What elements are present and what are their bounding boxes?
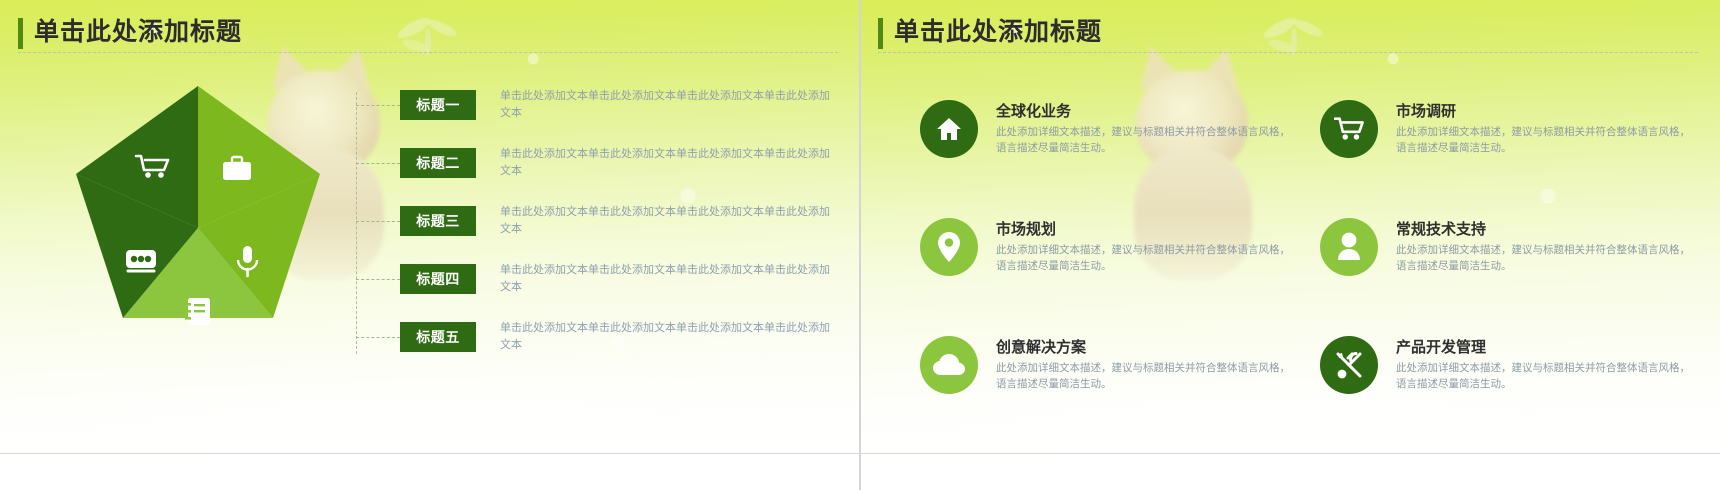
- feature-item-creative-solutions: 创意解决方案 此处添加详细文本描述，建议与标题相关并符合整体语言风格，语言描述尽…: [920, 332, 1310, 428]
- tools-icon[interactable]: [1320, 336, 1378, 394]
- slide-bottom-rule: [860, 453, 1720, 454]
- label-chip-1[interactable]: 标题一: [400, 90, 476, 120]
- home-icon[interactable]: [920, 100, 978, 158]
- label-chip-2[interactable]: 标题二: [400, 148, 476, 178]
- slide-deck: 单击此处添加标题: [0, 0, 1720, 490]
- title-divider: [18, 52, 838, 53]
- feature-item-market-research: 市场调研 此处添加详细文本描述，建议与标题相关并符合整体语言风格，语言描述尽量简…: [1320, 96, 1710, 192]
- label-text-2: 单击此处添加文本单击此处添加文本单击此处添加文本单击此处添加文本: [500, 146, 830, 180]
- slide-2: 单击此处添加标题 全球化业务 此处添加详细文本描述，建议与标题相关并符合整体语言…: [860, 0, 1720, 490]
- feature-item-product-development: 产品开发管理 此处添加详细文本描述，建议与标题相关并符合整体语言风格，语言描述尽…: [1320, 332, 1710, 428]
- feature-text: 此处添加详细文本描述，建议与标题相关并符合整体语言风格，语言描述尽量简洁生动。: [1396, 124, 1696, 156]
- feature-heading: 市场规划: [996, 218, 1056, 239]
- feature-text: 此处添加详细文本描述，建议与标题相关并符合整体语言风格，语言描述尽量简洁生动。: [996, 124, 1296, 156]
- title-accent-bar: [18, 18, 23, 49]
- title-divider: [878, 52, 1698, 53]
- connector-dash: [356, 163, 400, 164]
- cart-icon[interactable]: [1320, 100, 1378, 158]
- feature-item-global-business: 全球化业务 此处添加详细文本描述，建议与标题相关并符合整体语言风格，语言描述尽量…: [920, 96, 1310, 192]
- label-text-1: 单击此处添加文本单击此处添加文本单击此处添加文本单击此处添加文本: [500, 88, 830, 122]
- slide-2-header: 单击此处添加标题: [878, 14, 1698, 54]
- slide-divider: [859, 0, 861, 490]
- page-title: 单击此处添加标题: [34, 14, 242, 50]
- notebook-icon: [185, 298, 210, 325]
- slide-bottom-rule: [0, 453, 860, 454]
- feature-item-market-planning: 市场规划 此处添加详细文本描述，建议与标题相关并符合整体语言风格，语言描述尽量简…: [920, 214, 1310, 310]
- label-text-5: 单击此处添加文本单击此处添加文本单击此处添加文本单击此处添加文本: [500, 320, 830, 354]
- list-item: 标题五 单击此处添加文本单击此处添加文本单击此处添加文本单击此处添加文本: [400, 322, 840, 380]
- location-pin-icon[interactable]: [920, 218, 978, 276]
- feature-heading: 常规技术支持: [1396, 218, 1486, 239]
- connector-dash: [356, 337, 400, 338]
- page-title: 单击此处添加标题: [894, 14, 1102, 50]
- feature-heading: 创意解决方案: [996, 336, 1086, 357]
- slide-1: 单击此处添加标题: [0, 0, 860, 490]
- feature-text: 此处添加详细文本描述，建议与标题相关并符合整体语言风格，语言描述尽量简洁生动。: [996, 360, 1296, 392]
- connector-dash: [356, 105, 400, 106]
- telephone-icon: [126, 250, 156, 271]
- connector-dash: [356, 221, 400, 222]
- feature-text: 此处添加详细文本描述，建议与标题相关并符合整体语言风格，语言描述尽量简洁生动。: [1396, 242, 1696, 274]
- label-chip-3[interactable]: 标题三: [400, 206, 476, 236]
- label-chip-4[interactable]: 标题四: [400, 264, 476, 294]
- user-icon[interactable]: [1320, 218, 1378, 276]
- connector-dash: [356, 279, 400, 280]
- list-item: 标题三 单击此处添加文本单击此处添加文本单击此处添加文本单击此处添加文本: [400, 206, 840, 264]
- title-accent-bar: [878, 18, 883, 49]
- label-chip-5[interactable]: 标题五: [400, 322, 476, 352]
- feature-heading: 全球化业务: [996, 100, 1071, 121]
- cloud-icon[interactable]: [920, 336, 978, 394]
- list-item: 标题一 单击此处添加文本单击此处添加文本单击此处添加文本单击此处添加文本: [400, 90, 840, 148]
- feature-item-technical-support: 常规技术支持 此处添加详细文本描述，建议与标题相关并符合整体语言风格，语言描述尽…: [1320, 214, 1710, 310]
- label-text-4: 单击此处添加文本单击此处添加文本单击此处添加文本单击此处添加文本: [500, 262, 830, 296]
- slide-1-header: 单击此处添加标题: [18, 14, 838, 54]
- list-item: 标题四 单击此处添加文本单击此处添加文本单击此处添加文本单击此处添加文本: [400, 264, 840, 322]
- feature-text: 此处添加详细文本描述，建议与标题相关并符合整体语言风格，语言描述尽量简洁生动。: [1396, 360, 1696, 392]
- slide-1-label-list: 标题一 单击此处添加文本单击此处添加文本单击此处添加文本单击此处添加文本 标题二…: [400, 90, 840, 380]
- list-item: 标题二 单击此处添加文本单击此处添加文本单击此处添加文本单击此处添加文本: [400, 148, 840, 206]
- label-text-3: 单击此处添加文本单击此处添加文本单击此处添加文本单击此处添加文本: [500, 204, 830, 238]
- feature-text: 此处添加详细文本描述，建议与标题相关并符合整体语言风格，语言描述尽量简洁生动。: [996, 242, 1296, 274]
- feature-heading: 产品开发管理: [1396, 336, 1486, 357]
- feature-heading: 市场调研: [1396, 100, 1456, 121]
- pentagon-diagram: [48, 78, 378, 378]
- connector-vertical-line: [356, 92, 357, 354]
